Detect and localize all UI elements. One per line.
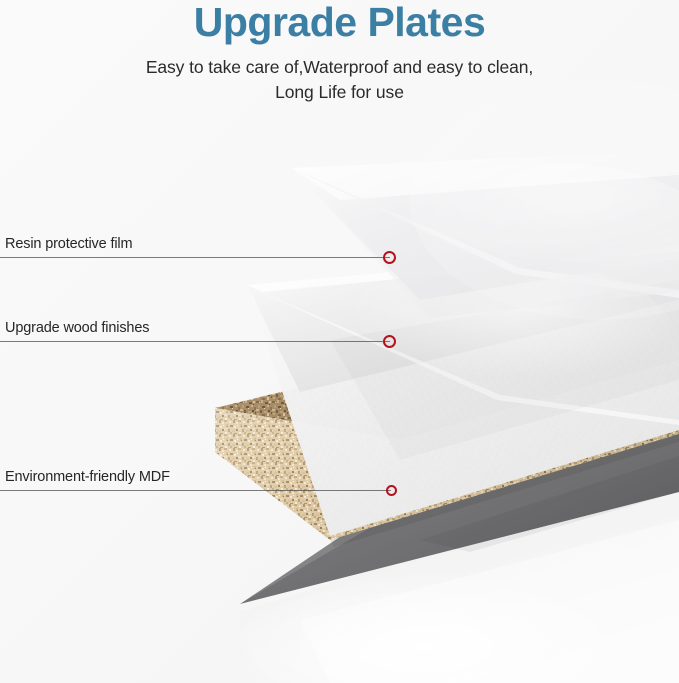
callout-rule-upgrade-wood-finishes	[0, 341, 390, 342]
page-title: Upgrade Plates	[0, 0, 679, 44]
subtitle-line-2: Long Life for use	[0, 80, 679, 105]
callout-rule-environment-friendly-mdf	[0, 490, 391, 491]
callout-label-resin-protective-film: Resin protective film	[5, 236, 132, 252]
callout-marker-resin-protective-film	[383, 251, 396, 264]
callout-rule-resin-protective-film	[0, 257, 390, 258]
callout-label-environment-friendly-mdf: Environment-friendly MDF	[5, 469, 170, 485]
page-subtitle: Easy to take care of,Waterproof and easy…	[0, 55, 679, 105]
callout-marker-upgrade-wood-finishes	[383, 335, 396, 348]
subtitle-line-1: Easy to take care of,Waterproof and easy…	[0, 55, 679, 80]
product-infographic-page: Upgrade Plates Easy to take care of,Wate…	[0, 0, 679, 683]
header-block: Upgrade Plates Easy to take care of,Wate…	[0, 0, 679, 105]
callout-marker-environment-friendly-mdf	[386, 485, 397, 496]
callout-label-upgrade-wood-finishes: Upgrade wood finishes	[5, 320, 149, 336]
